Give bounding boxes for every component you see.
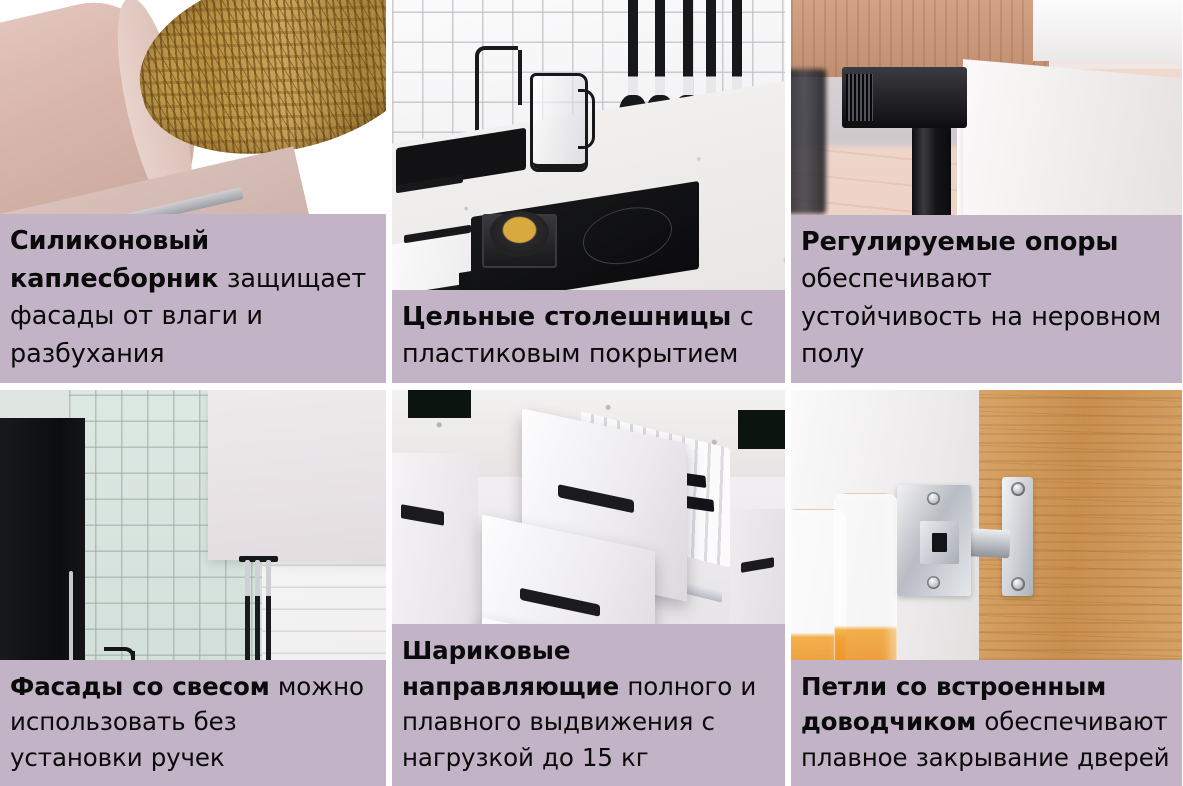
caption-bold: Цельные столешницы (402, 302, 731, 332)
tile-caption: Силиконовый каплесборник защищает фасады… (0, 214, 386, 383)
tile-caption: Петли со встроенным доводчиком обеспечив… (791, 660, 1182, 786)
caption-bold: Силиконовый каплесборник (10, 226, 218, 293)
caption-bold: Фасады со свесом (10, 672, 270, 701)
caption-bold: Регулируемые опоры (801, 227, 1118, 257)
feature-tile-adjustable-legs[interactable]: Регулируемые опоры обеспечивают устойчив… (791, 0, 1182, 383)
feature-tile-overhang-facades[interactable]: Фасады со свесом можно использовать без … (0, 390, 386, 786)
tile-caption: Шариковые направляющие полного и плавног… (392, 624, 785, 786)
features-grid: Силиконовый каплесборник защищает фасады… (0, 0, 1183, 786)
feature-tile-silicone-drip-catcher[interactable]: Силиконовый каплесборник защищает фасады… (0, 0, 386, 383)
tile-caption: Фасады со свесом можно использовать без … (0, 660, 386, 786)
feature-tile-solid-countertops[interactable]: Цельные столешницы с пластиковым покрыти… (392, 0, 785, 383)
caption-bold: Шариковые направляющие (402, 636, 619, 701)
tile-caption: Цельные столешницы с пластиковым покрыти… (392, 290, 785, 383)
tile-caption: Регулируемые опоры обеспечивают устойчив… (791, 215, 1182, 383)
feature-tile-ball-bearing-runners[interactable]: Шариковые направляющие полного и плавног… (392, 390, 785, 786)
feature-tile-soft-close-hinges[interactable]: Петли со встроенным доводчиком обеспечив… (791, 390, 1182, 786)
caption-regular: обеспечивают устойчивость на неровном по… (801, 264, 1161, 368)
